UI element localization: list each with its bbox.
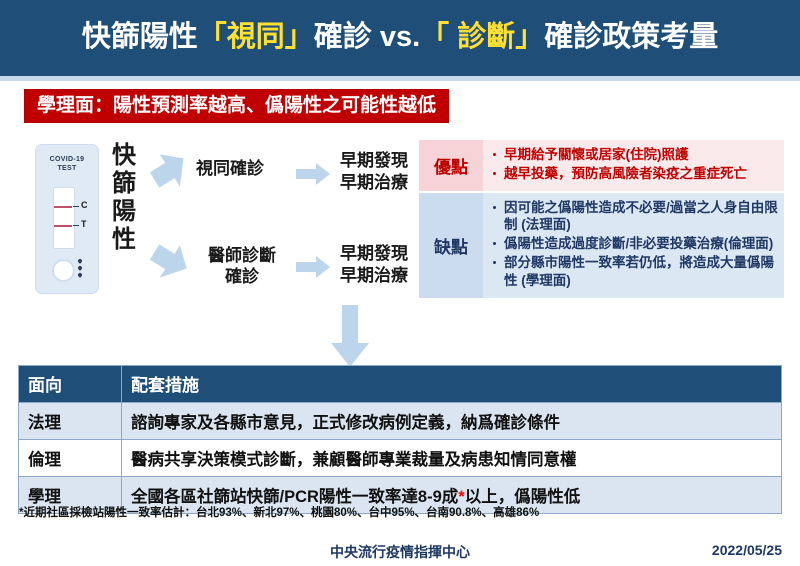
pros-list: 早期給予關懷或居家(住院)照護 越早投藥，預防高風險者染疫之重症死亡 xyxy=(491,146,778,183)
title-highlight-2: 「 診斷」 xyxy=(420,21,544,53)
measure-text-after: 以上，僞陽性低 xyxy=(465,488,581,506)
kit-sample-well xyxy=(52,259,75,282)
cons-list: 因可能之僞陽性造成不必要/過當之人身自由限制 (法理面) 僞陽性造成過度診斷/非… xyxy=(491,199,778,290)
cons-content: 因可能之僞陽性造成不必要/過當之人身自由限制 (法理面) 僞陽性造成過度診斷/非… xyxy=(483,193,784,298)
header-divider xyxy=(0,76,800,81)
footer-organization: 中央流行疫情指揮中心 xyxy=(0,542,800,562)
pros-content: 早期給予關懷或居家(住院)照護 越早投藥，預防高風險者染疫之重症死亡 xyxy=(483,140,784,191)
footer-bar: 中央流行疫情指揮中心 2022/05/25 xyxy=(0,535,800,566)
table-header: 面向 配套措施 xyxy=(19,366,782,403)
measure-text-before: 全國各區社篩站快篩/PCR陽性一致率達8-9成 xyxy=(131,488,458,506)
table-cell-measure: 諮詢專家及各縣市意見，正式修改病例定義，納爲確診條件 xyxy=(122,403,782,440)
footnote-text: *近期社區採檢站陽性一致率估計：台北93%、新北97%、桃園80%、台中95%、… xyxy=(19,508,539,520)
table-cell-aspect: 倫理 xyxy=(19,440,122,477)
step-doctor-diagnosis: 醫師診斷 確診 xyxy=(194,246,290,287)
arrow-up-right-icon xyxy=(148,150,190,192)
pros-item: 越早投藥，預防高風險者染疫之重症死亡 xyxy=(491,165,778,183)
table-body: 法理 諮詢專家及各縣市意見，正式修改病例定義，納爲確診條件 倫理 醫病共享決策模… xyxy=(19,403,782,514)
arrow-down-icon xyxy=(331,305,369,367)
slide-root: 快篩陽性「視同」確診 vs.「 診斷」確診政策考量 學理面：陽性預測率越高、僞陽… xyxy=(0,0,800,566)
kit-title: COVID-19 TEST xyxy=(36,155,98,174)
table-cell-aspect: 法理 xyxy=(19,403,122,440)
table-header-measure: 配套措施 xyxy=(122,366,782,403)
table-row: 倫理 醫病共享決策模式診斷，兼顧醫師專業裁量及病患知情同意權 xyxy=(19,440,782,477)
footer-date: 2022/05/25 xyxy=(712,542,782,558)
arrow-right-icon-bottom xyxy=(296,256,330,278)
arrow-down-right-icon xyxy=(148,240,190,282)
pros-row: 優點 早期給予關懷或居家(住院)照護 越早投藥，預防高風險者染疫之重症死亡 xyxy=(419,140,784,191)
kit-drops-icon xyxy=(78,259,83,278)
table-header-aspect: 面向 xyxy=(19,366,122,403)
kit-result-window xyxy=(53,187,75,249)
title-highlight-1: 「視同」 xyxy=(198,21,314,53)
pros-label: 優點 xyxy=(419,140,483,191)
step-treat-as-confirmed: 視同確診 xyxy=(196,159,264,180)
kit-label-t: T xyxy=(81,220,87,229)
table-cell-measure: 醫病共享決策模式診斷，兼顧醫師專業裁量及病患知情同意權 xyxy=(122,440,782,477)
outcome-top: 早期發現 早期治療 xyxy=(340,150,408,194)
outcome-bottom-line1: 早期發現 xyxy=(340,244,408,263)
title-segment-1: 快篩陽性 xyxy=(82,21,198,53)
pros-item: 早期給予關懷或居家(住院)照護 xyxy=(491,146,778,164)
kit-band-control xyxy=(54,206,72,208)
cons-item: 僞陽性造成過度診斷/非必要投藥治療(倫理面) xyxy=(491,235,778,253)
cons-item: 部分縣市陽性一致率若仍低，將造成大量僞陽性 (學理面) xyxy=(491,254,778,290)
kit-band-test xyxy=(54,225,72,227)
arrow-right-icon-top xyxy=(296,163,330,185)
positive-result-label: 快篩陽性 xyxy=(108,142,140,254)
subtitle-banner: 學理面：陽性預測率越高、僞陽性之可能性越低 xyxy=(24,89,449,123)
table-header-row: 面向 配套措施 xyxy=(19,366,782,403)
rapid-test-kit-icon: COVID-19 TEST C T xyxy=(35,144,99,294)
outcome-bottom-line2: 早期治療 xyxy=(340,266,408,285)
cons-row: 缺點 因可能之僞陽性造成不必要/過當之人身自由限制 (法理面) 僞陽性造成過度診… xyxy=(419,193,784,298)
kit-label-c: C xyxy=(81,201,88,210)
step-doctor-diagnosis-line2: 確診 xyxy=(225,267,259,286)
step-doctor-diagnosis-line1: 醫師診斷 xyxy=(208,246,276,265)
outcome-top-line2: 早期治療 xyxy=(340,173,408,192)
outcome-top-line1: 早期發現 xyxy=(340,151,408,170)
pros-cons-panel: 優點 早期給予關懷或居家(住院)照護 越早投藥，預防高風險者染疫之重症死亡 缺點… xyxy=(418,139,785,299)
page-title: 快篩陽性「視同」確診 vs.「 診斷」確診政策考量 xyxy=(82,23,718,54)
measures-table: 面向 配套措施 法理 諮詢專家及各縣市意見，正式修改病例定義，納爲確診條件 倫理… xyxy=(18,365,782,514)
kit-title-line2: TEST xyxy=(57,165,76,172)
table-row: 法理 諮詢專家及各縣市意見，正式修改病例定義，納爲確診條件 xyxy=(19,403,782,440)
cons-item: 因可能之僞陽性造成不必要/過當之人身自由限制 (法理面) xyxy=(491,199,778,235)
kit-title-line1: COVID-19 xyxy=(50,156,85,163)
kit-tick-control xyxy=(73,206,79,207)
kit-tick-test xyxy=(73,225,79,226)
outcome-bottom: 早期發現 早期治療 xyxy=(340,243,408,287)
header-bar: 快篩陽性「視同」確診 vs.「 診斷」確診政策考量 xyxy=(0,0,800,76)
title-segment-2: 確診 vs. xyxy=(314,21,420,53)
title-segment-3: 確診政策考量 xyxy=(544,21,718,53)
cons-label: 缺點 xyxy=(419,193,483,298)
